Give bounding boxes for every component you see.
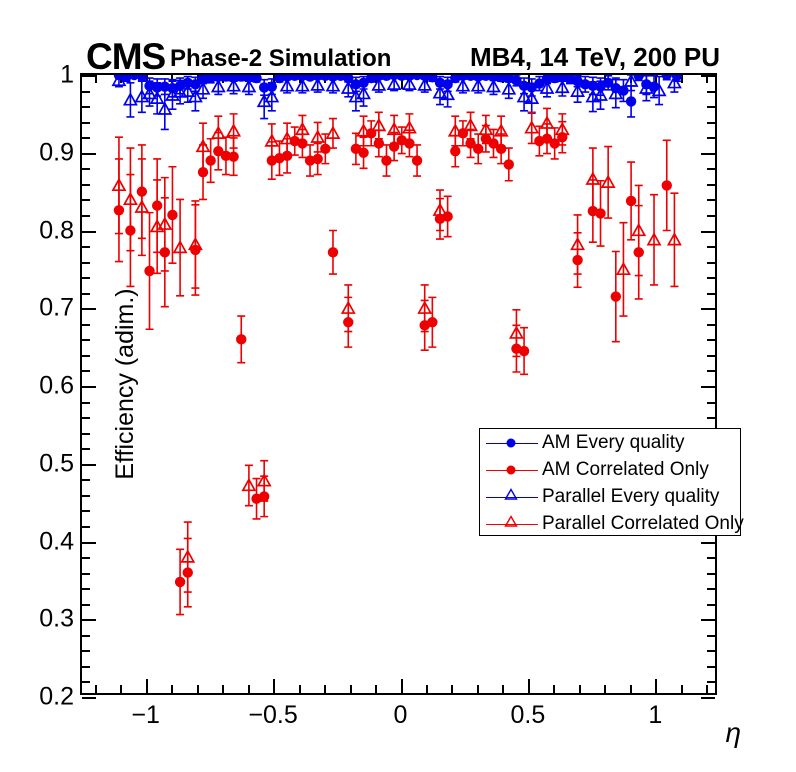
x-axis-tick-label: −0.5 (248, 701, 297, 730)
marker-filled-circle (381, 155, 391, 165)
x-axis-title: η (725, 717, 741, 749)
y-axis-tick-label: 0.8 (39, 216, 74, 245)
marker-filled-circle (626, 96, 636, 106)
marker-filled-circle (312, 154, 322, 164)
marker-filled-circle (611, 291, 621, 301)
marker-filled-circle (228, 151, 238, 161)
marker-filled-circle (328, 247, 338, 257)
legend-marker (480, 483, 542, 510)
marker-filled-circle (236, 334, 246, 344)
marker-filled-circle (473, 144, 483, 154)
legend-entry: AM Correlated Only (480, 456, 740, 483)
series-am-correlated-only (114, 121, 672, 615)
x-axis-tick-label: 1 (648, 701, 662, 730)
legend-marker (480, 429, 542, 456)
legend-entry: AM Every quality (480, 429, 740, 456)
efficiency-plot-canvas: CMS Phase-2 Simulation MB4, 14 TeV, 200 … (0, 0, 796, 772)
simulation-phase-label: Phase-2 Simulation (170, 45, 391, 73)
legend-label: Parallel Every quality (542, 486, 719, 508)
legend-entry: Parallel Correlated Only (480, 510, 740, 537)
marker-filled-circle (167, 210, 177, 220)
marker-filled-circle (205, 155, 215, 165)
y-axis-tick-label: 0.2 (39, 683, 74, 712)
cms-logo-label: CMS (86, 36, 165, 78)
marker-filled-circle (595, 208, 605, 218)
legend-entry: Parallel Every quality (480, 483, 740, 510)
legend-filled-circle-icon (507, 465, 516, 474)
marker-filled-circle (412, 155, 422, 165)
marker-filled-circle (320, 144, 330, 154)
legend-label: AM Correlated Only (542, 459, 709, 481)
legend-filled-circle-icon (507, 438, 516, 447)
marker-filled-circle (427, 317, 437, 327)
x-axis-tick-label: 0.5 (511, 701, 546, 730)
marker-filled-circle (626, 196, 636, 206)
y-axis-tick-label: 0.6 (39, 372, 74, 401)
marker-filled-circle (504, 159, 514, 169)
legend-label: AM Every quality (542, 432, 685, 454)
legend-open-triangle-icon (504, 488, 518, 506)
x-axis-tick-label: 0 (394, 701, 408, 730)
x-axis-tick-label: −1 (131, 701, 160, 730)
y-axis-tick-label: 0.7 (39, 294, 74, 323)
y-axis-tick-label: 1 (60, 61, 74, 90)
y-axis-tick-label: 0.3 (39, 605, 74, 634)
marker-filled-circle (519, 346, 529, 356)
marker-filled-circle (374, 138, 384, 148)
marker-filled-circle (144, 266, 154, 276)
marker-filled-circle (175, 577, 185, 587)
y-axis-major-tick (701, 697, 715, 699)
legend-open-triangle-icon (504, 515, 518, 533)
marker-filled-circle (662, 180, 672, 190)
plot-legend: AM Every qualityAM Correlated OnlyParall… (479, 428, 741, 536)
plot-frame: Efficiency (adim.) η 0.20.30.40.50.60.70… (80, 73, 717, 695)
y-axis-tick-label: 0.4 (39, 527, 74, 556)
marker-filled-circle (358, 148, 368, 158)
legend-marker (480, 456, 542, 483)
run-conditions-label: MB4, 14 TeV, 200 PU (470, 42, 720, 73)
data-points-layer (82, 75, 715, 693)
legend-label: Parallel Correlated Only (542, 513, 744, 535)
scatter-series-svg (82, 75, 715, 693)
y-axis-tick-label: 0.5 (39, 449, 74, 478)
y-axis-tick-label: 0.9 (39, 138, 74, 167)
legend-marker (480, 510, 542, 537)
y-axis-major-tick (82, 697, 96, 699)
marker-filled-circle (450, 146, 460, 156)
